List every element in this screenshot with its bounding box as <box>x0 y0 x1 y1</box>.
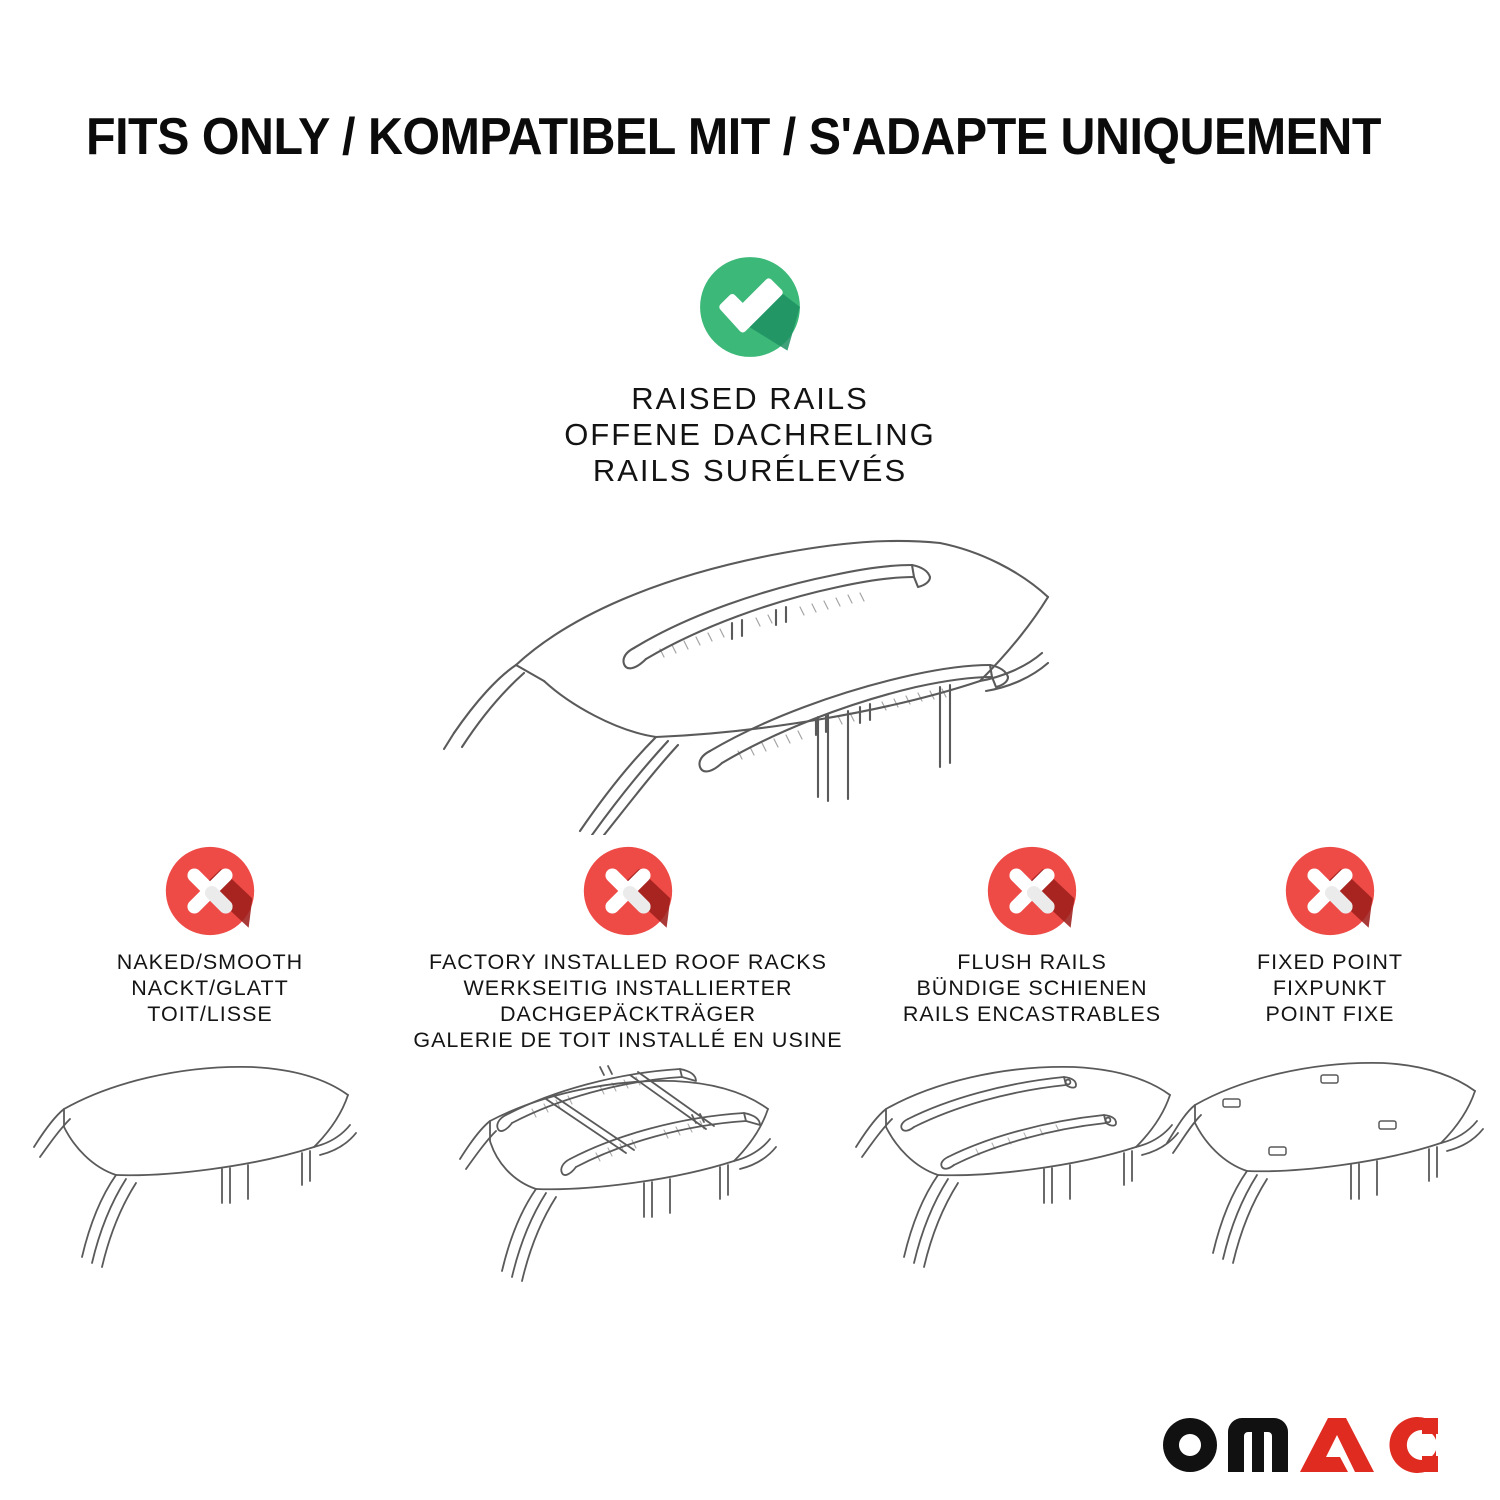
incompatible-item-factory-roof-rack: FACTORY INSTALLED ROOF RACKS WERKSEITIG … <box>398 845 858 1053</box>
fitment-compatibility-infographic: FITS ONLY / KOMPATIBEL MIT / S'ADAPTE UN… <box>0 0 1500 1500</box>
red-x-circle-icon <box>1284 845 1376 937</box>
car-roof-flush-rails-diagram <box>852 1043 1212 1293</box>
label-line-2: FIXPUNKT <box>1208 975 1452 1001</box>
incompatible-item-flush-rails: FLUSH RAILS BÜNDIGE SCHIENEN RAILS ENCAS… <box>872 845 1192 1027</box>
compatible-section: RAISED RAILS OFFENE DACHRELING RAILS SUR… <box>0 255 1500 489</box>
red-x-circle-icon <box>164 845 256 937</box>
label-line-3: RAILS ENCASTRABLES <box>872 1001 1192 1027</box>
car-roof-with-raised-rails-diagram <box>420 505 1080 835</box>
label-line-2: NACKT/GLATT <box>60 975 360 1001</box>
car-roof-factory-roof-rack-diagram <box>448 1059 808 1309</box>
page-title: FITS ONLY / KOMPATIBEL MIT / S'ADAPTE UN… <box>86 108 1332 166</box>
label-line-3: DACHGEPÄCKTRÄGER <box>398 1001 858 1027</box>
omac-logo <box>1150 1408 1470 1478</box>
compatible-label-line-3: RAILS SURÉLEVÉS <box>0 453 1500 489</box>
incompatible-item-fixed-point: FIXED POINT FIXPUNKT POINT FIXE <box>1208 845 1452 1027</box>
label-line-1: FIXED POINT <box>1208 949 1452 975</box>
incompatible-label-flush-rails: FLUSH RAILS BÜNDIGE SCHIENEN RAILS ENCAS… <box>872 949 1192 1027</box>
red-x-circle-icon <box>582 845 674 937</box>
incompatible-label-naked-smooth: NAKED/SMOOTH NACKT/GLATT TOIT/LISSE <box>60 949 360 1027</box>
label-line-1: FLUSH RAILS <box>872 949 1192 975</box>
car-roof-fixed-point-diagram <box>1165 1043 1495 1293</box>
incompatible-section: NAKED/SMOOTH NACKT/GLATT TOIT/LISSE <box>0 845 1500 1445</box>
label-line-1: FACTORY INSTALLED ROOF RACKS <box>398 949 858 975</box>
label-line-1: NAKED/SMOOTH <box>60 949 360 975</box>
compatible-label-line-1: RAISED RAILS <box>0 381 1500 417</box>
incompatible-item-naked-smooth: NAKED/SMOOTH NACKT/GLATT TOIT/LISSE <box>60 845 360 1027</box>
label-line-2: WERKSEITIG INSTALLIERTER <box>398 975 858 1001</box>
red-x-circle-icon <box>986 845 1078 937</box>
label-line-4: GALERIE DE TOIT INSTALLÉ EN USINE <box>398 1027 858 1053</box>
label-line-3: TOIT/LISSE <box>60 1001 360 1027</box>
green-check-circle-icon <box>698 255 802 359</box>
incompatible-label-factory-roof-rack: FACTORY INSTALLED ROOF RACKS WERKSEITIG … <box>398 949 858 1053</box>
car-roof-naked-smooth-diagram <box>30 1043 390 1293</box>
label-line-3: POINT FIXE <box>1208 1001 1452 1027</box>
compatible-label-line-2: OFFENE DACHRELING <box>0 417 1500 453</box>
incompatible-label-fixed-point: FIXED POINT FIXPUNKT POINT FIXE <box>1208 949 1452 1027</box>
compatible-label: RAISED RAILS OFFENE DACHRELING RAILS SUR… <box>0 381 1500 489</box>
label-line-2: BÜNDIGE SCHIENEN <box>872 975 1192 1001</box>
